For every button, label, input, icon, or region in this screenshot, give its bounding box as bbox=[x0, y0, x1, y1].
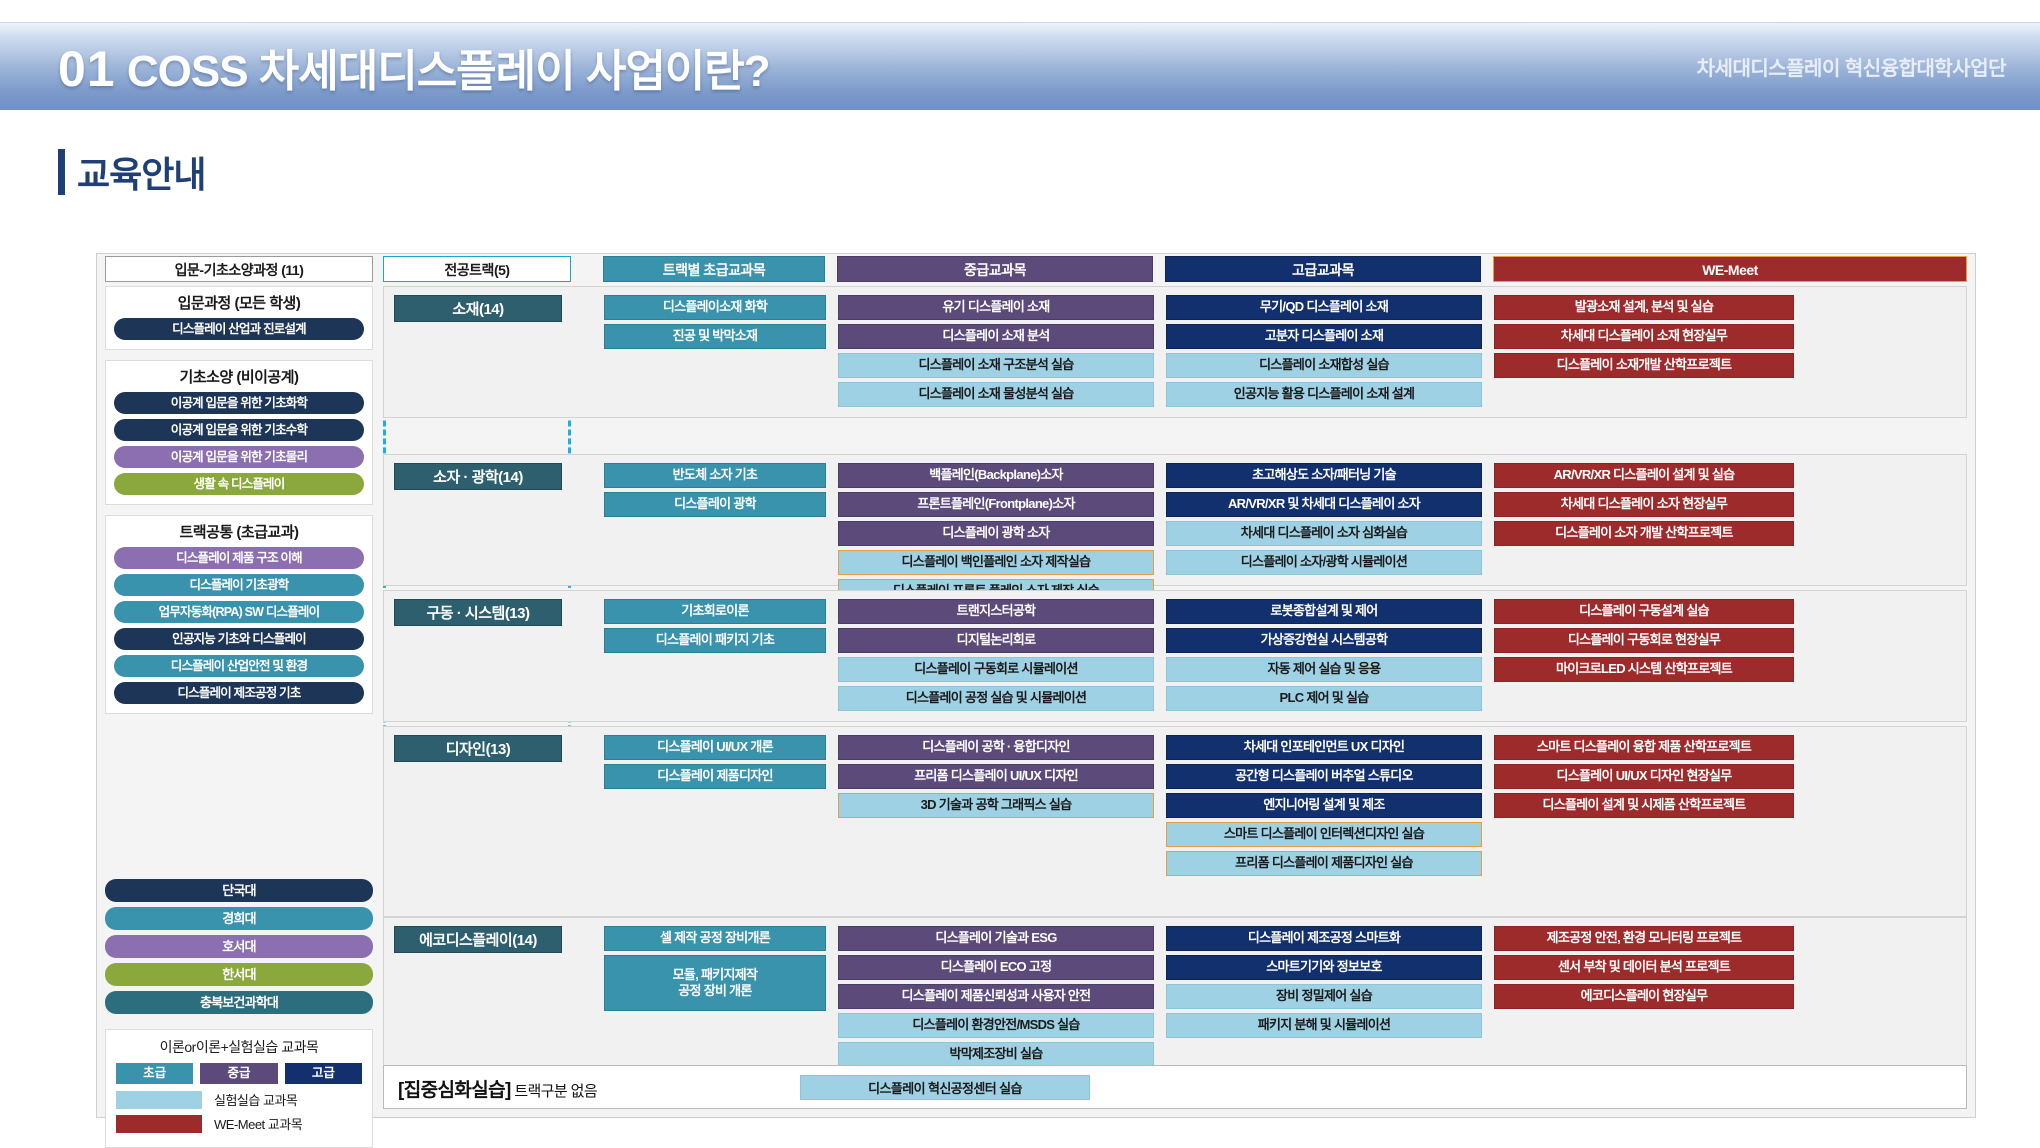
intermediate-course-cell[interactable]: 박막제조장비 실습 bbox=[838, 1042, 1154, 1067]
beginner-course-cell[interactable]: 진공 및 박막소재 bbox=[604, 324, 826, 349]
foundation-course-pill[interactable]: 이공계 입문을 위한 기초수학 bbox=[114, 419, 364, 441]
intensive-practice-course: 디스플레이 혁신공정센터 실습 bbox=[800, 1075, 1090, 1100]
advanced-course-cell[interactable]: PLC 제어 및 실습 bbox=[1166, 686, 1482, 711]
wemeet-course-cell[interactable]: 스마트 디스플레이 융합 제품 산학프로젝트 bbox=[1494, 735, 1794, 760]
advanced-course-cell[interactable]: 차세대 인포테인먼트 UX 디자인 bbox=[1166, 735, 1482, 760]
advanced-course-cell[interactable]: 스마트 디스플레이 인터렉션디자인 실습 bbox=[1166, 822, 1482, 847]
beginner-course-cell[interactable]: 모듈, 패키지제작 공정 장비 개론 bbox=[604, 955, 826, 1011]
track-name-box[interactable]: 디자인(13) bbox=[394, 735, 562, 762]
intermediate-course-cell[interactable]: 백플레인(Backplane)소자 bbox=[838, 463, 1154, 488]
track-row: 디자인(13)디스플레이 UI/UX 개론디스플레이 제품디자인디스플레이 공학… bbox=[383, 726, 1967, 917]
foundation-group-title: 입문과정 (모든 학생) bbox=[114, 292, 364, 313]
intermediate-course-cell[interactable]: 디스플레이 공정 실습 및 시뮬레이션 bbox=[838, 686, 1154, 711]
banner-number: 01 bbox=[58, 41, 116, 97]
advanced-course-cell[interactable]: 차세대 디스플레이 소자 심화실습 bbox=[1166, 521, 1482, 546]
intermediate-course-cell[interactable]: 디스플레이 환경안전/MSDS 실습 bbox=[838, 1013, 1154, 1038]
section-title: 교육안내 bbox=[77, 146, 205, 198]
legend-color-swatch bbox=[116, 1091, 202, 1109]
wemeet-course-cell[interactable]: 제조공정 안전, 환경 모니터링 프로젝트 bbox=[1494, 926, 1794, 951]
foundation-course-pill[interactable]: 디스플레이 산업안전 및 환경 bbox=[114, 655, 364, 677]
wemeet-course-cell[interactable]: 발광소재 설계, 분석 및 실습 bbox=[1494, 295, 1794, 320]
advanced-course-cell[interactable]: 프리폼 디스플레이 제품디자인 실습 bbox=[1166, 851, 1482, 876]
legend-level-swatch: 중급 bbox=[200, 1063, 277, 1084]
intermediate-course-cell[interactable]: 디스플레이 백인플레인 소자 제작실습 bbox=[838, 550, 1154, 575]
intermediate-course-cell[interactable]: 3D 기술과 공학 그래픽스 실습 bbox=[838, 793, 1154, 818]
advanced-course-cell[interactable]: 장비 정밀제어 실습 bbox=[1166, 984, 1482, 1009]
column-header-intermediate: 중급교과목 bbox=[837, 256, 1153, 282]
beginner-course-cell[interactable]: 디스플레이 패키지 기초 bbox=[604, 628, 826, 653]
intensive-practice-bar: [집중심화실습] 트랙구분 없음 디스플레이 혁신공정센터 실습 bbox=[383, 1065, 1967, 1109]
intensive-practice-label-bold: [집중심화실습] bbox=[398, 1080, 511, 1101]
column-header-wemeet: WE-Meet bbox=[1493, 256, 1967, 282]
wemeet-course-cell[interactable]: 디스플레이 소재개발 산학프로젝트 bbox=[1494, 353, 1794, 378]
legend-label: WE-Meet 교과목 bbox=[214, 1114, 302, 1133]
advanced-course-cell[interactable]: 초고해상도 소자/패터닝 기술 bbox=[1166, 463, 1482, 488]
intermediate-course-cell[interactable]: 디스플레이 소재 구조분석 실습 bbox=[838, 353, 1154, 378]
intermediate-course-cell[interactable]: 디스플레이 제품신뢰성과 사용자 안전 bbox=[838, 984, 1154, 1009]
foundation-course-pill[interactable]: 디스플레이 제조공정 기초 bbox=[114, 682, 364, 704]
intermediate-course-cell[interactable]: 디스플레이 소재 분석 bbox=[838, 324, 1154, 349]
beginner-course-cell[interactable]: 디스플레이 광학 bbox=[604, 492, 826, 517]
intermediate-course-cell[interactable]: 디스플레이 구동회로 시뮬레이션 bbox=[838, 657, 1154, 682]
beginner-course-cell[interactable]: 디스플레이소재 화학 bbox=[604, 295, 826, 320]
legend-title: 이론or이론+실험실습 교과목 bbox=[116, 1037, 362, 1057]
wemeet-course-cell[interactable]: 센서 부착 및 데이터 분석 프로젝트 bbox=[1494, 955, 1794, 980]
intensive-practice-label-rest: 트랙구분 없음 bbox=[511, 1083, 597, 1100]
foundation-course-pill[interactable]: 디스플레이 산업과 진로설계 bbox=[114, 318, 364, 340]
advanced-course-cell[interactable]: 인공지능 활용 디스플레이 소재 설계 bbox=[1166, 382, 1482, 407]
banner-title: 01 COSS 차세대디스플레이 사업이란? bbox=[58, 35, 770, 99]
wemeet-course-cell[interactable]: 차세대 디스플레이 소자 현장실무 bbox=[1494, 492, 1794, 517]
foundation-group: 트랙공통 (초급교과)디스플레이 제품 구조 이해디스플레이 기초광학업무자동화… bbox=[105, 515, 373, 714]
wemeet-course-cell[interactable]: 디스플레이 UI/UX 디자인 현장실무 bbox=[1494, 764, 1794, 789]
legend-row: WE-Meet 교과목 bbox=[116, 1114, 362, 1133]
track-name-box[interactable]: 에코디스플레이(14) bbox=[394, 926, 562, 953]
track-name-box[interactable]: 소재(14) bbox=[394, 295, 562, 322]
university-pill[interactable]: 충북보건과학대 bbox=[105, 991, 373, 1014]
wemeet-course-cell[interactable]: 디스플레이 구동설계 실습 bbox=[1494, 599, 1794, 624]
intermediate-course-cell[interactable]: 디스플레이 광학 소자 bbox=[838, 521, 1154, 546]
foundation-course-pill[interactable]: 이공계 입문을 위한 기초화학 bbox=[114, 392, 364, 414]
beginner-course-cell[interactable]: 셀 제작 공정 장비개론 bbox=[604, 926, 826, 951]
track-name-box[interactable]: 소자 · 광학(14) bbox=[394, 463, 562, 490]
wemeet-course-cell[interactable]: 차세대 디스플레이 소재 현장실무 bbox=[1494, 324, 1794, 349]
university-pill[interactable]: 경희대 bbox=[105, 907, 373, 930]
university-pill[interactable]: 단국대 bbox=[105, 879, 373, 902]
track-name-box[interactable]: 구동 · 시스템(13) bbox=[394, 599, 562, 626]
banner-org-name: 차세대디스플레이 혁신융합대학사업단 bbox=[1697, 52, 2006, 81]
foundation-course-pill[interactable]: 생활 속 디스플레이 bbox=[114, 473, 364, 495]
track-row: 소재(14)디스플레이소재 화학진공 및 박막소재유기 디스플레이 소재디스플레… bbox=[383, 286, 1967, 418]
advanced-course-cell[interactable]: 공간형 디스플레이 버추얼 스튜디오 bbox=[1166, 764, 1482, 789]
legend-level-swatch: 초급 bbox=[116, 1063, 193, 1084]
advanced-course-cell[interactable]: 자동 제어 실습 및 응용 bbox=[1166, 657, 1482, 682]
intermediate-course-cell[interactable]: 디지털논리회로 bbox=[838, 628, 1154, 653]
wemeet-course-cell[interactable]: 디스플레이 구동회로 현장실무 bbox=[1494, 628, 1794, 653]
intermediate-course-cell[interactable]: 디스플레이 기술과 ESG bbox=[838, 926, 1154, 951]
track-row: 구동 · 시스템(13)기초회로이론디스플레이 패키지 기초트랜지스터공학디지털… bbox=[383, 590, 1967, 722]
wemeet-course-cell[interactable]: 디스플레이 소자 개발 산학프로젝트 bbox=[1494, 521, 1794, 546]
wemeet-course-cell[interactable]: 마이크로LED 시스템 산학프로젝트 bbox=[1494, 657, 1794, 682]
advanced-course-cell[interactable]: 디스플레이 제조공정 스마트화 bbox=[1166, 926, 1482, 951]
intermediate-course-cell[interactable]: 프론트플레인(Frontplane)소자 bbox=[838, 492, 1154, 517]
wemeet-course-cell[interactable]: AR/VR/XR 디스플레이 설계 및 실습 bbox=[1494, 463, 1794, 488]
banner-title-text: COSS 차세대디스플레이 사업이란? bbox=[127, 47, 770, 96]
beginner-course-cell[interactable]: 기초회로이론 bbox=[604, 599, 826, 624]
legend: 이론or이론+실험실습 교과목 초급중급고급 실험실습 교과목WE-Meet 교… bbox=[105, 1029, 373, 1148]
track-row: 소자 · 광학(14)반도체 소자 기초디스플레이 광학백플레인(Backpla… bbox=[383, 454, 1967, 586]
intensive-practice-label: [집중심화실습] 트랙구분 없음 bbox=[398, 1075, 597, 1102]
foundation-course-pill[interactable]: 인공지능 기초와 디스플레이 bbox=[114, 628, 364, 650]
foundation-group-title: 트랙공통 (초급교과) bbox=[114, 521, 364, 542]
column-header-major-track: 전공트랙(5) bbox=[383, 256, 571, 282]
intermediate-course-cell[interactable]: 디스플레이 소재 물성분석 실습 bbox=[838, 382, 1154, 407]
wemeet-course-cell[interactable]: 에코디스플레이 현장실무 bbox=[1494, 984, 1794, 1009]
page-banner: 01 COSS 차세대디스플레이 사업이란? 차세대디스플레이 혁신융합대학사업… bbox=[0, 22, 2040, 110]
legend-label: 실험실습 교과목 bbox=[214, 1090, 297, 1109]
foundation-group: 입문과정 (모든 학생)디스플레이 산업과 진로설계 bbox=[105, 286, 373, 350]
advanced-course-cell[interactable]: 무기/QD 디스플레이 소재 bbox=[1166, 295, 1482, 320]
participating-universities-list: 단국대경희대호서대한서대충북보건과학대 bbox=[105, 879, 373, 1014]
beginner-course-cell[interactable]: 반도체 소자 기초 bbox=[604, 463, 826, 488]
intermediate-course-cell[interactable]: 디스플레이 공학 · 융합디자인 bbox=[838, 735, 1154, 760]
advanced-course-cell[interactable]: 디스플레이 소자/광학 시뮬레이션 bbox=[1166, 550, 1482, 575]
legend-level-swatch: 고급 bbox=[285, 1063, 362, 1084]
university-pill[interactable]: 호서대 bbox=[105, 935, 373, 958]
intermediate-course-cell[interactable]: 트랜지스터공학 bbox=[838, 599, 1154, 624]
section-accent-bar bbox=[58, 149, 65, 195]
university-pill[interactable]: 한서대 bbox=[105, 963, 373, 986]
column-header-foundation: 입문-기초소양과정 (11) bbox=[105, 256, 373, 282]
legend-row: 실험실습 교과목 bbox=[116, 1090, 362, 1109]
advanced-course-cell[interactable]: 로봇종합설계 및 제어 bbox=[1166, 599, 1482, 624]
intermediate-course-cell[interactable]: 디스플레이 ECO 고정 bbox=[838, 955, 1154, 980]
column-header-beginner: 트랙별 초급교과목 bbox=[603, 256, 825, 282]
advanced-course-cell[interactable]: 디스플레이 소재합성 실습 bbox=[1166, 353, 1482, 378]
foundation-course-pill[interactable]: 업무자동화(RPA) SW 디스플레이 bbox=[114, 601, 364, 623]
advanced-course-cell[interactable]: 스마트기기와 정보보호 bbox=[1166, 955, 1482, 980]
curriculum-diagram: 입문-기초소양과정 (11) 전공트랙(5) 트랙별 초급교과목 중급교과목 고… bbox=[96, 253, 1976, 1118]
foundation-course-pill[interactable]: 이공계 입문을 위한 기초물리 bbox=[114, 446, 364, 468]
track-row: 에코디스플레이(14)셀 제작 공정 장비개론모듈, 패키지제작 공정 장비 개… bbox=[383, 917, 1967, 1069]
foundation-course-pill[interactable]: 디스플레이 제품 구조 이해 bbox=[114, 547, 364, 569]
foundation-course-pill[interactable]: 디스플레이 기초광학 bbox=[114, 574, 364, 596]
section-heading: 교육안내 bbox=[58, 146, 205, 198]
advanced-course-cell[interactable]: 엔지니어링 설계 및 제조 bbox=[1166, 793, 1482, 818]
foundation-group-title: 기초소양 (비이공계) bbox=[114, 366, 364, 387]
column-header-advanced: 고급교과목 bbox=[1165, 256, 1481, 282]
advanced-course-cell[interactable]: 패키지 분해 및 시뮬레이션 bbox=[1166, 1013, 1482, 1038]
foundation-group: 기초소양 (비이공계)이공계 입문을 위한 기초화학이공계 입문을 위한 기초수… bbox=[105, 360, 373, 505]
intermediate-course-cell[interactable]: 프리폼 디스플레이 UI/UX 디자인 bbox=[838, 764, 1154, 789]
legend-levels: 초급중급고급 bbox=[116, 1063, 362, 1084]
advanced-course-cell[interactable]: 고분자 디스플레이 소재 bbox=[1166, 324, 1482, 349]
legend-rows: 실험실습 교과목WE-Meet 교과목 bbox=[116, 1090, 362, 1133]
intermediate-course-cell[interactable]: 유기 디스플레이 소재 bbox=[838, 295, 1154, 320]
legend-color-swatch bbox=[116, 1115, 202, 1133]
wemeet-course-cell[interactable]: 디스플레이 설계 및 시제품 산학프로젝트 bbox=[1494, 793, 1794, 818]
advanced-course-cell[interactable]: 가상증강현실 시스템공학 bbox=[1166, 628, 1482, 653]
beginner-course-cell[interactable]: 디스플레이 제품디자인 bbox=[604, 764, 826, 789]
advanced-course-cell[interactable]: AR/VR/XR 및 차세대 디스플레이 소자 bbox=[1166, 492, 1482, 517]
beginner-course-cell[interactable]: 디스플레이 UI/UX 개론 bbox=[604, 735, 826, 760]
